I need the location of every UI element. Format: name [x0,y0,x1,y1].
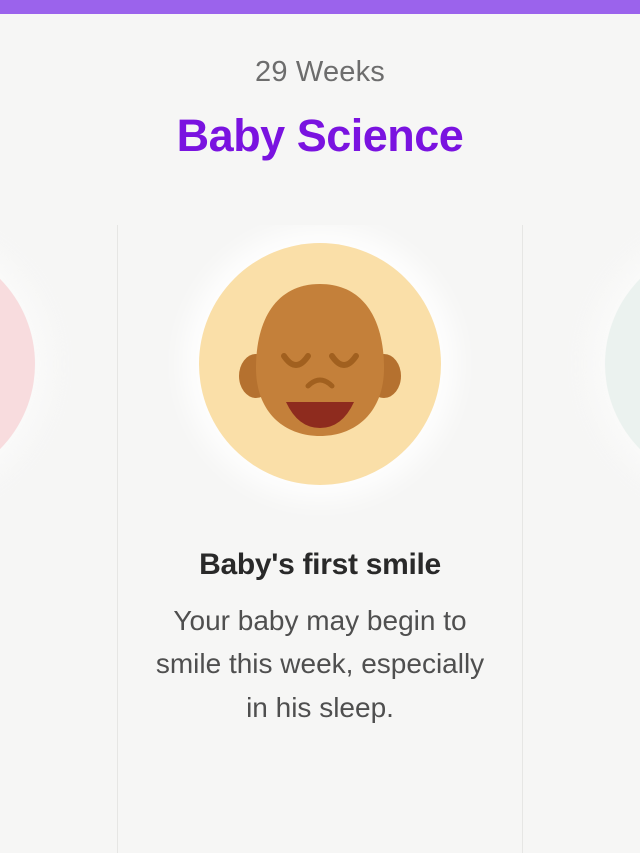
pink-circle-illustration [0,243,35,485]
top-accent-bar [0,0,640,14]
illustration-wrapper [118,237,522,485]
card-previous[interactable]: ers ean our g a bit hose were more [0,225,117,853]
card-heading: Mo [523,547,640,583]
page-header: 29 Weeks Baby Science [0,14,640,158]
card-body: Your baby may begin to smile this week, … [118,599,522,729]
card-carousel[interactable]: ers ean our g a bit hose were more [0,225,640,853]
illustration-wrapper [523,237,640,485]
card-body: ean our g a bit hose were more [0,599,117,853]
baby-face-icon [199,243,441,485]
page-title: Baby Science [0,113,640,158]
mint-circle-illustration [605,243,640,485]
week-label: 29 Weeks [0,58,640,87]
illustration-wrapper [0,237,117,485]
card-next[interactable]: Mo Yo contin They rhyth unc [523,225,640,853]
card-heading: Baby's first smile [118,547,522,583]
card-heading: ers [0,547,117,583]
card-current[interactable]: Baby's first smile Your baby may begin t… [117,225,523,853]
card-body: Yo contin They rhyth unc [523,599,640,853]
